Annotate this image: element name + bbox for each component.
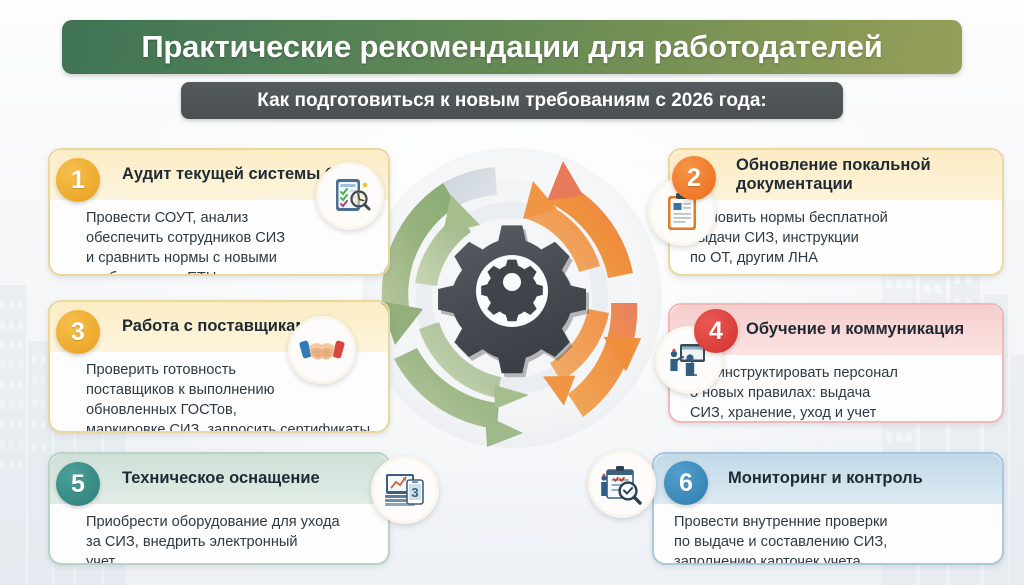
step-badge-1: 1	[56, 158, 100, 202]
step-badge-4-number: 4	[709, 317, 723, 346]
step-badge-2: 2	[672, 156, 716, 200]
cycle-gear-arrows-graphic	[347, 133, 677, 463]
step-badge-2-number: 2	[687, 164, 701, 193]
checklist-magnifier-icon	[316, 162, 384, 230]
step-card-5[interactable]: Техническое оснащение Приобрести оборудо…	[48, 452, 390, 565]
card-6-title: Мониторинг и контроль	[728, 469, 923, 488]
clipboard-magnifier-icon	[588, 450, 656, 518]
card-2-title: Обновление покальной документации	[736, 156, 988, 195]
page-subtitle: Как подготовиться к новым требованиям с …	[257, 90, 766, 112]
infographic-poster: Практические рекомендации для работодате…	[0, 0, 1024, 585]
step-badge-3-number: 3	[71, 318, 85, 347]
step-badge-5-number: 5	[71, 470, 85, 499]
step-badge-5: 5	[56, 462, 100, 506]
step-badge-4: 4	[694, 309, 738, 353]
step-badge-6-number: 6	[679, 469, 693, 498]
poster-title-bar: Практические рекомендации для работодате…	[62, 20, 962, 74]
svg-text:3: 3	[411, 485, 418, 500]
step-card-6[interactable]: Мониторинг и контроль Провести внутренни…	[652, 452, 1004, 565]
step-badge-3: 3	[56, 310, 100, 354]
card-6-body: Провести внутренние проверки по выдаче и…	[654, 504, 1002, 563]
handshake-icon	[288, 316, 356, 384]
step-card-2[interactable]: Обновление покальной документации Обнови…	[668, 148, 1004, 276]
poster-subtitle-bar: Как подготовиться к новым требованиям с …	[181, 82, 843, 119]
card-4-title: Обучение и коммуникация	[746, 320, 964, 339]
card-5-body: Приобрести оборудование для ухода за СИЗ…	[50, 504, 388, 563]
step-badge-1-number: 1	[71, 166, 85, 195]
monitor-chart-device-icon: 3	[371, 456, 439, 524]
step-badge-6: 6	[664, 461, 708, 505]
card-3-title: Работа с поставщиками	[122, 317, 318, 336]
card-5-title: Техническое оснащение	[122, 469, 320, 488]
page-title: Практические рекомендации для работодате…	[141, 29, 882, 65]
card-2-body: Обновить нормы бесплатной выдачи СИЗ, ин…	[670, 200, 1002, 274]
